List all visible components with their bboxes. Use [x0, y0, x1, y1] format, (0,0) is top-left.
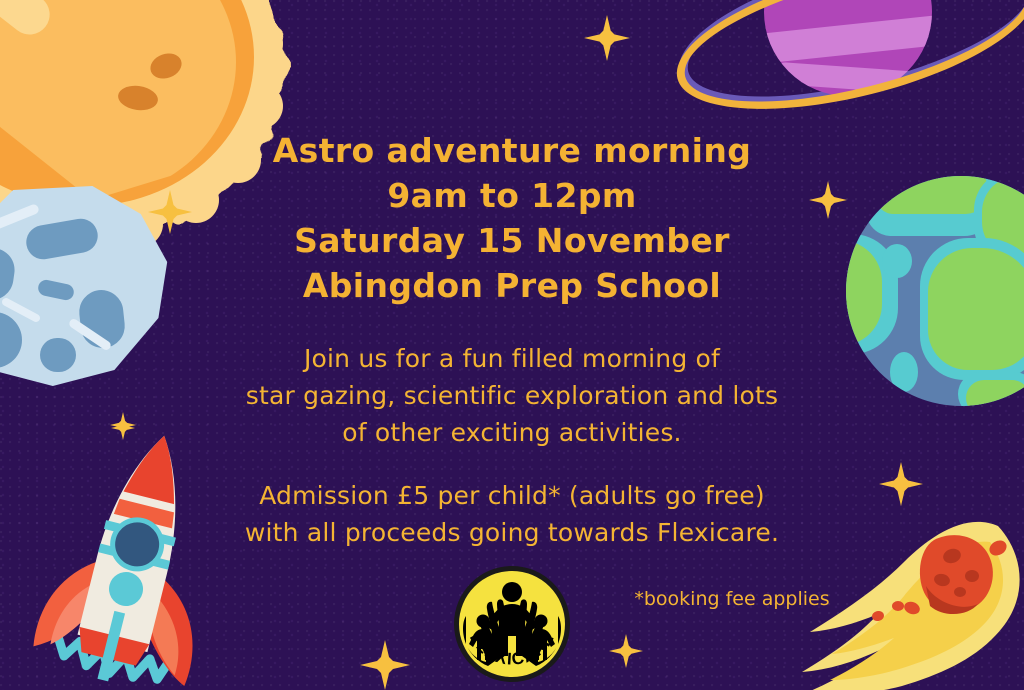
logo-figure-child-left-head	[477, 615, 490, 628]
rocket-illustration	[14, 424, 254, 690]
star-bottom-left	[360, 640, 410, 690]
comet-head-crater-4	[954, 587, 966, 597]
flexicare-logo: FLEXICARE	[452, 564, 572, 684]
intro-line-1: Join us for a fun filled morning of	[0, 340, 1024, 377]
intro-line-3: of other exciting activities.	[0, 414, 1024, 451]
admission-line-1: Admission £5 per child* (adults go free)	[0, 477, 1024, 514]
poster-headline: Astro adventure morning 9am to 12pm Satu…	[0, 128, 1024, 308]
headline-line-date: Saturday 15 November	[0, 218, 1024, 263]
comet-head-crater-2	[965, 570, 979, 582]
headline-line-time: 9am to 12pm	[0, 173, 1024, 218]
headline-line-event-title: Astro adventure morning	[0, 128, 1024, 173]
intro-line-2: star gazing, scientific exploration and …	[0, 377, 1024, 414]
star-bottom-right	[609, 634, 643, 668]
booking-fee-footnote: *booking fee applies	[612, 588, 852, 610]
intro-paragraph: Join us for a fun filled morning of star…	[0, 340, 1024, 451]
admission-line-2: with all proceeds going towards Flexicar…	[0, 514, 1024, 551]
logo-figure-child-right-head	[535, 615, 548, 628]
admission-paragraph: Admission £5 per child* (adults go free)…	[0, 477, 1024, 551]
logo-figure-adult-head	[502, 582, 522, 602]
comet-spark-3	[892, 601, 904, 611]
event-poster: FLEXICARE Astro adventure morning 9am to…	[0, 0, 1024, 690]
star-top-center	[584, 15, 630, 61]
headline-line-venue: Abingdon Prep School	[0, 263, 1024, 308]
